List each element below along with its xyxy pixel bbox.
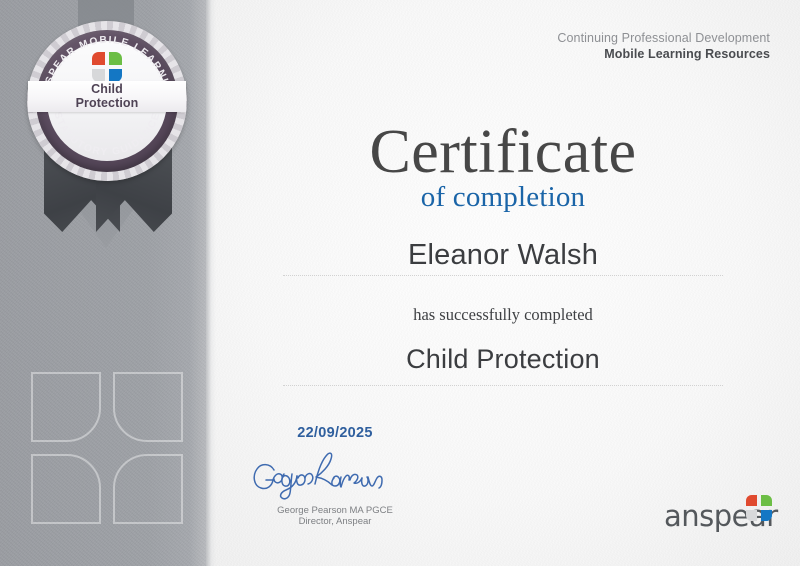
completion-statement: has successfully completed [216,305,790,325]
badge-petal-red [92,52,105,65]
issue-date: 22/09/2025 [239,425,431,441]
watermark-petal-bottom-right [113,454,183,524]
certificate-title: Certificate [216,117,790,187]
certificate-subtitle: of completion [216,181,790,214]
certificate-document: ANSPEAR MOBILE LEARNING STATUTORY GUIDAN… [0,0,800,566]
panel-edge-gradient [206,0,216,566]
course-title: Child Protection [216,344,790,375]
badge-pinwheel-icon [92,52,122,82]
handwritten-signature [248,448,398,502]
anspear-pinwheel-icon [746,495,772,521]
header-subtitle: Continuing Professional Development [557,31,770,45]
badge-petal-green [109,52,122,65]
badge-banner: Child Protection [28,81,186,112]
watermark-petal-bottom-left [31,454,101,524]
badge-banner-text: Child Protection [28,83,186,110]
signatory-name: George Pearson MA PGCE [239,505,431,516]
course-divider [283,385,723,387]
badge-banner-line1: Child [91,82,123,96]
brand-petal-red [746,495,757,506]
watermark-petal-top-left [31,372,101,442]
award-badge-seal: ANSPEAR MOBILE LEARNING STATUTORY GUIDAN… [27,21,187,181]
header-block: Continuing Professional Development Mobi… [557,31,770,61]
signatory-role: Director, Anspear [239,516,431,527]
brand-petal-green [761,495,772,506]
brand-petal-blue [761,510,772,521]
header-title: Mobile Learning Resources [557,47,770,61]
watermark-pinwheel-icon [31,372,183,524]
brand-petal-grey [746,510,757,521]
watermark-petal-top-right [113,372,183,442]
recipient-divider [283,275,723,277]
badge-banner-line2: Protection [76,96,139,110]
recipient-name: Eleanor Walsh [216,239,790,272]
anspear-logo: anspear [664,495,776,531]
